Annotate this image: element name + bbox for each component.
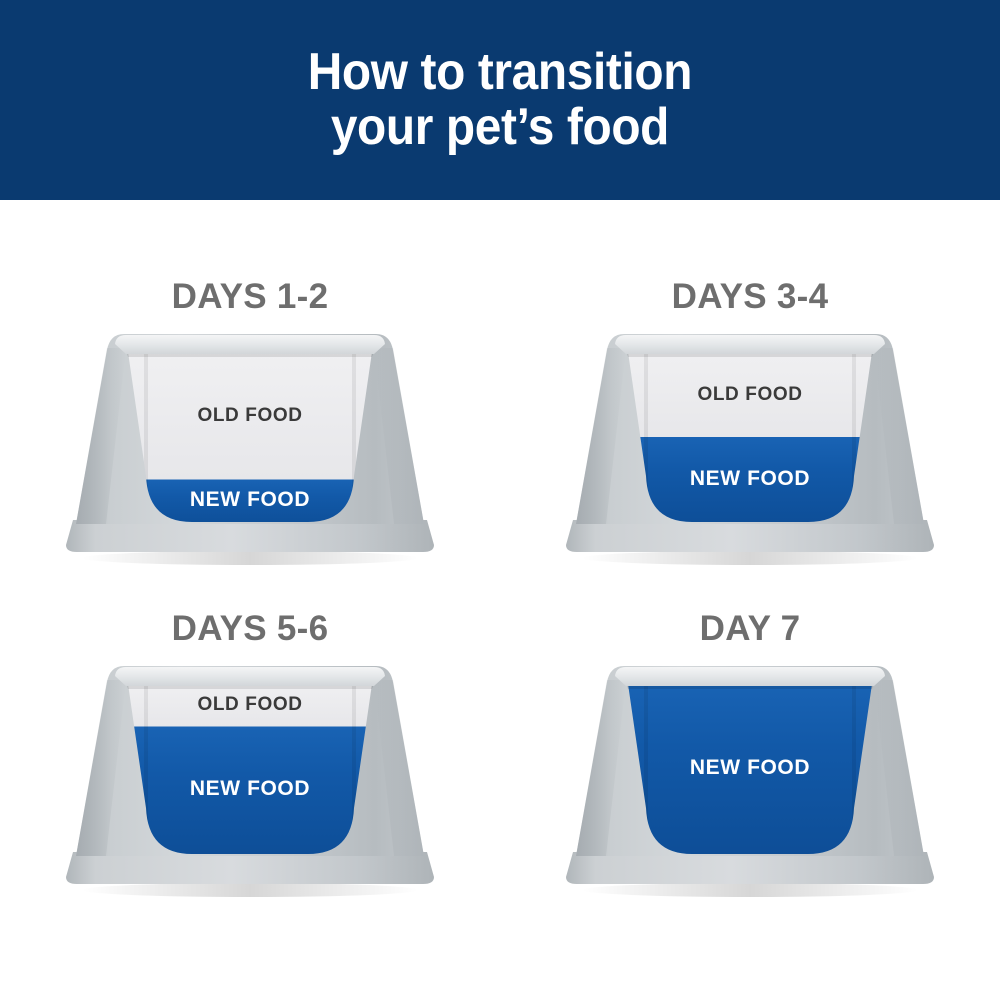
- bowl-graphic-day-7: [550, 656, 950, 906]
- bowl-graphic-days-5-6: [50, 656, 450, 906]
- bowl-days-1-2: OLD FOOD NEW FOOD: [50, 324, 450, 574]
- page-title-line-1: How to transition: [308, 45, 692, 100]
- step-panel-days-5-6: DAYS 5-6: [0, 580, 500, 960]
- bowl-day-7: NEW FOOD: [550, 656, 950, 906]
- bowl-days-5-6: OLD FOOD NEW FOOD: [50, 656, 450, 906]
- transition-steps-grid: DAYS 1-2: [0, 200, 1000, 1000]
- bowl-days-3-4: OLD FOOD NEW FOOD: [550, 324, 950, 574]
- step-panel-days-3-4: DAYS 3-4: [500, 200, 1000, 580]
- page-title: How to transition your pet’s food: [289, 45, 710, 155]
- bowl-graphic-days-1-2: [50, 324, 450, 574]
- header-banner: How to transition your pet’s food: [0, 0, 1000, 200]
- page-title-line-2: your pet’s food: [308, 100, 692, 155]
- step-label-days-1-2: DAYS 1-2: [172, 276, 329, 318]
- bowl-graphic-days-3-4: [550, 324, 950, 574]
- step-label-days-5-6: DAYS 5-6: [172, 608, 329, 650]
- step-panel-day-7: DAY 7: [500, 580, 1000, 960]
- step-panel-days-1-2: DAYS 1-2: [0, 200, 500, 580]
- step-label-days-3-4: DAYS 3-4: [672, 276, 829, 318]
- infographic-root: How to transition your pet’s food DAYS 1…: [0, 0, 1000, 1000]
- step-label-day-7: DAY 7: [700, 608, 801, 650]
